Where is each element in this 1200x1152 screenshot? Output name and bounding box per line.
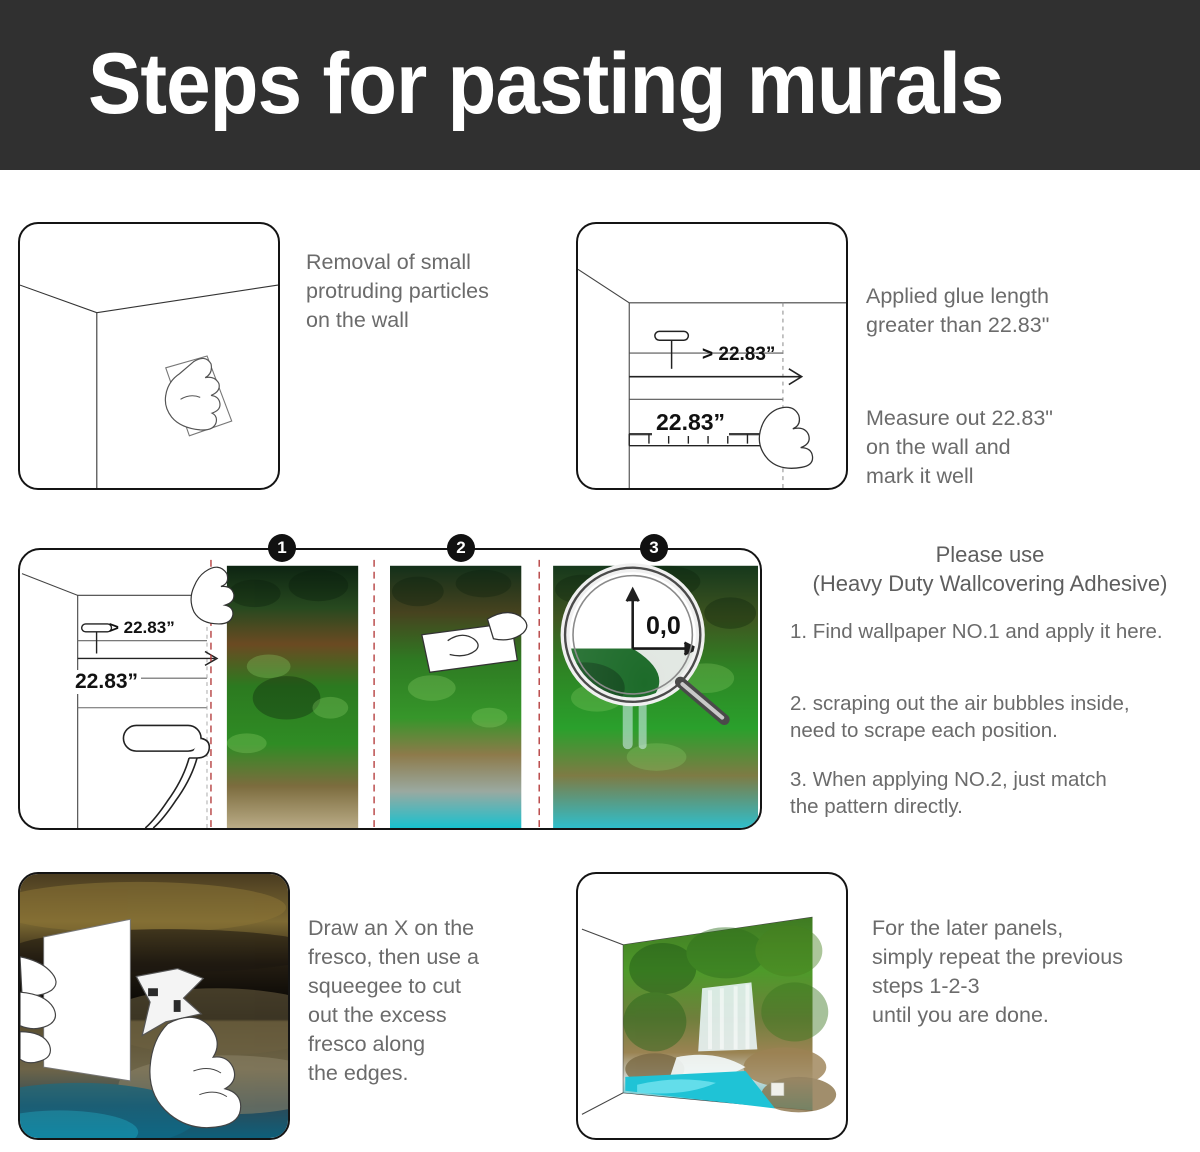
instruction-1: 1. Find wallpaper NO.1 and apply it here…: [790, 618, 1190, 645]
instruction-2: 2. scraping out the air bubbles inside, …: [790, 690, 1190, 744]
origin-label: 0,0: [646, 612, 681, 641]
step-2-caption-a: Applied glue length greater than 22.83": [866, 282, 1166, 340]
step-1-illustration-panel: [18, 222, 280, 490]
glue-length-label: > 22.83”: [702, 344, 775, 366]
step-5-caption: For the later panels, simply repeat the …: [872, 914, 1200, 1030]
step-4-caption: Draw an X on the fresco, then use a sque…: [308, 914, 568, 1088]
step-2-caption-b: Measure out 22.83" on the wall and mark …: [866, 404, 1166, 491]
badge-2: 2: [447, 534, 475, 562]
cut-excess-fresco-photo: [20, 874, 288, 1138]
glue-length-label-mid: > 22.83”: [109, 618, 175, 638]
step-2-illustration-panel: > 22.83” 22.83”: [576, 222, 848, 490]
header-bar: Steps for pasting murals: [0, 0, 1200, 170]
step-5-illustration-panel: [576, 872, 848, 1140]
finished-mural-on-wall: [578, 874, 846, 1138]
badge-1: 1: [268, 534, 296, 562]
adhesive-heading-line2: (Heavy Duty Wallcovering Adhesive): [790, 569, 1190, 598]
adhesive-heading-line1: Please use: [800, 540, 1180, 569]
step-1-caption: Removal of small protruding particles on…: [306, 248, 556, 335]
badge-3: 3: [640, 534, 668, 562]
measure-label-mid: 22.83”: [72, 670, 141, 694]
measure-label: 22.83”: [652, 409, 729, 436]
step-4-illustration-panel: [18, 872, 290, 1140]
wall-corner-sandpaper-drawing: [20, 224, 278, 488]
page-title: Steps for pasting murals: [88, 34, 1003, 134]
step-3-illustration-panel: > 22.83” 22.83” 0,0: [18, 548, 762, 830]
instruction-3: 3. When applying NO.2, just match the pa…: [790, 766, 1190, 820]
